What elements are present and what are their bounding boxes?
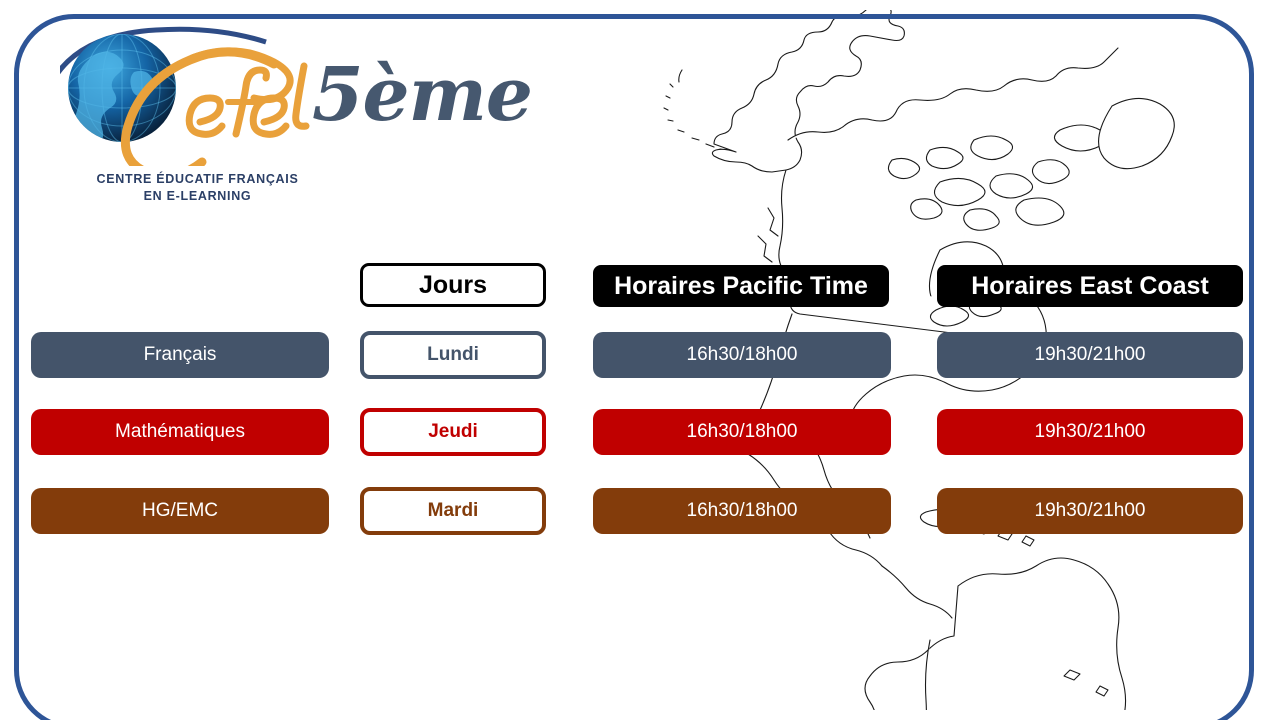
logo-tagline: CENTRE ÉDUCATIF FRANÇAIS EN E-LEARNING (60, 171, 335, 205)
table-row-pacific-time: 16h30/18h00 (593, 409, 891, 455)
table-row-day: Mardi (360, 487, 546, 535)
table-row-day: Lundi (360, 331, 546, 379)
table-row-pacific-time: 16h30/18h00 (593, 332, 891, 378)
table-row-subject: Mathématiques (31, 409, 329, 455)
column-header-east-coast: Horaires East Coast (937, 265, 1243, 307)
logo-tagline-line1: CENTRE ÉDUCATIF FRANÇAIS (60, 171, 335, 188)
column-header-pacific-time: Horaires Pacific Time (593, 265, 889, 307)
logo-tagline-line2: EN E-LEARNING (60, 188, 335, 205)
table-row-pacific-time: 16h30/18h00 (593, 488, 891, 534)
table-row-day: Jeudi (360, 408, 546, 456)
slide-canvas: CENTRE ÉDUCATIF FRANÇAIS EN E-LEARNING 5… (0, 0, 1280, 720)
table-row-subject: Français (31, 332, 329, 378)
table-row-east-coast: 19h30/21h00 (937, 488, 1243, 534)
column-header-days: Jours (360, 263, 546, 307)
page-title: 5ème (312, 58, 532, 132)
table-row-east-coast: 19h30/21h00 (937, 332, 1243, 378)
table-row-subject: HG/EMC (31, 488, 329, 534)
logo: CENTRE ÉDUCATIF FRANÇAIS EN E-LEARNING (60, 26, 340, 211)
table-row-east-coast: 19h30/21h00 (937, 409, 1243, 455)
globe-icon (60, 26, 335, 166)
